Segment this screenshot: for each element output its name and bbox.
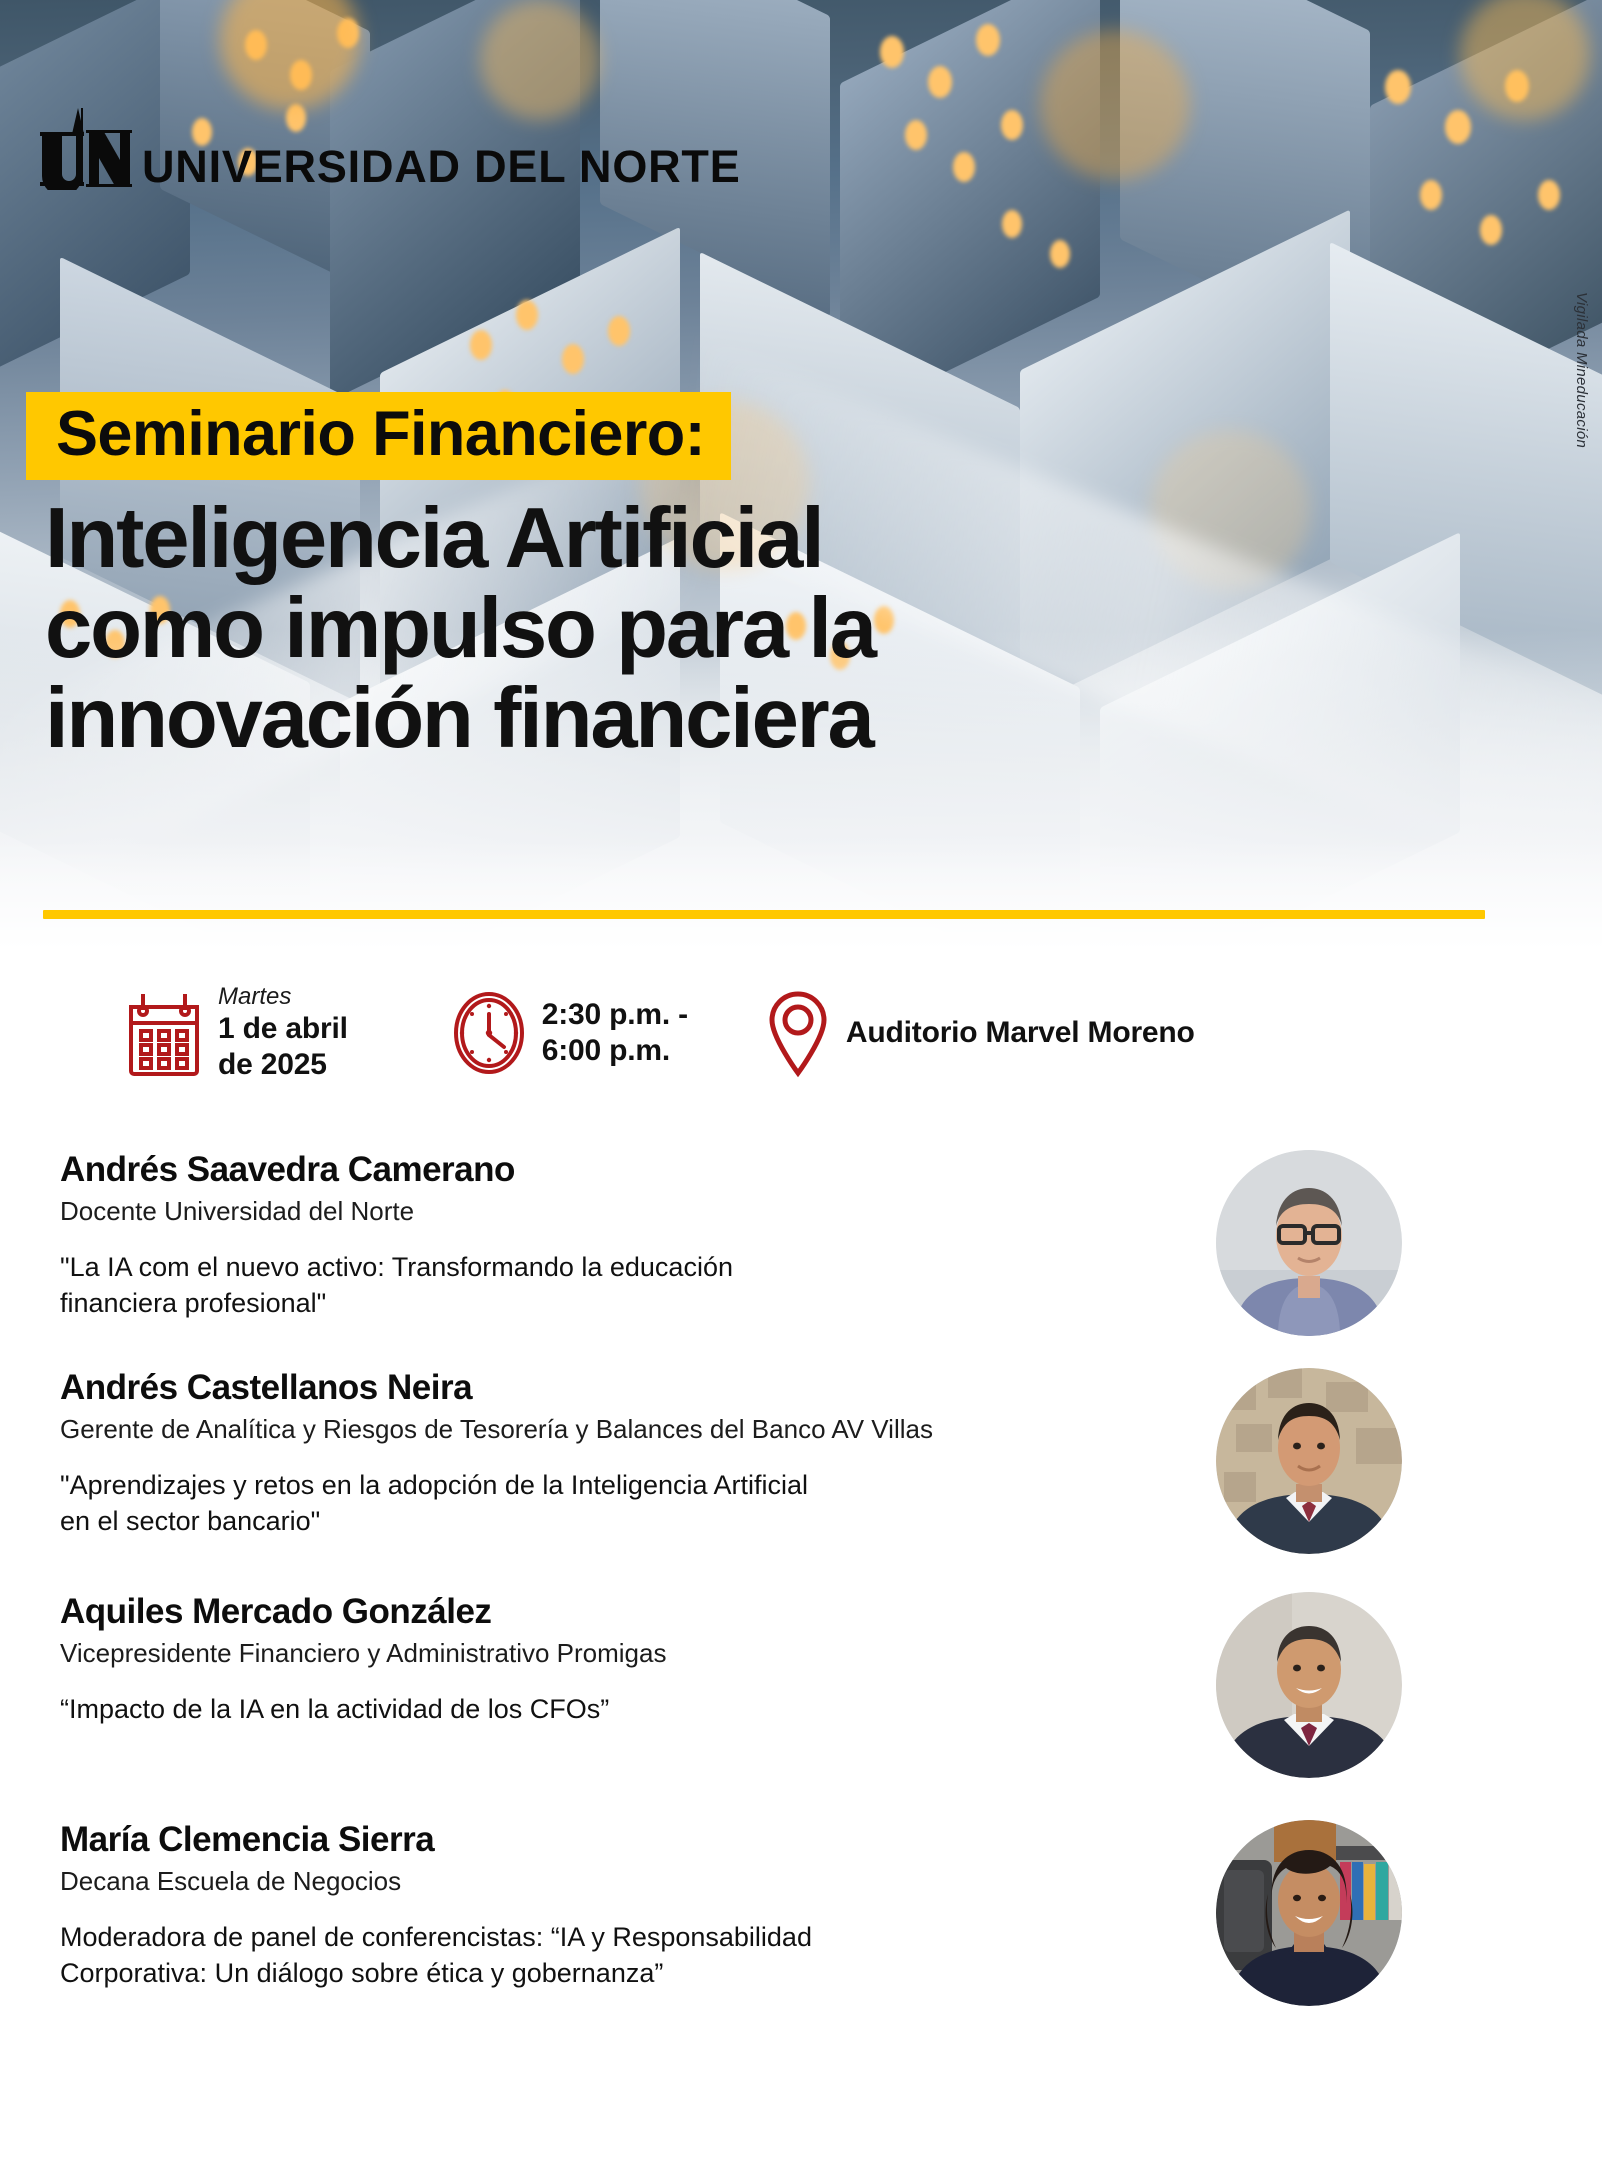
deco-light xyxy=(562,344,584,374)
deco-light xyxy=(1001,110,1023,140)
event-time: 2:30 p.m. - 6:00 p.m. xyxy=(452,990,688,1076)
avatar xyxy=(1216,1820,1402,2006)
speaker-role: Vicepresidente Financiero y Administrati… xyxy=(60,1637,1192,1671)
speaker-topic-line-2: en el sector bancario" xyxy=(60,1504,1192,1540)
speaker-name: María Clemencia Sierra xyxy=(60,1820,1192,1861)
speaker-topic-line-1: "La IA com el nuevo activo: Transformand… xyxy=(60,1250,1192,1286)
calendar-icon xyxy=(126,990,202,1076)
speakers-list: Andrés Saavedra Camerano Docente Univers… xyxy=(0,1150,1602,2006)
speaker-entry: María Clemencia Sierra Decana Escuela de… xyxy=(0,1820,1602,2006)
deco-glow xyxy=(1040,30,1190,180)
event-date: Martes 1 de abril de 2025 xyxy=(126,983,348,1083)
speaker-topic-line-1: "Aprendizajes y retos en la adopción de … xyxy=(60,1468,1192,1504)
deco-light xyxy=(880,36,904,68)
event-time-end: 6:00 p.m. xyxy=(542,1033,688,1069)
deco-glow xyxy=(480,0,600,120)
page-title: Inteligencia Artificial como impulso par… xyxy=(45,494,1385,764)
speaker-name: Aquiles Mercado González xyxy=(60,1592,1192,1633)
deco-light xyxy=(976,24,1000,56)
vigilada-mineducacion-note: Vigilada Mineducación xyxy=(1573,292,1590,448)
event-location: Auditorio Marvel Moreno xyxy=(766,988,1195,1078)
avatar xyxy=(1216,1150,1402,1336)
deco-light xyxy=(1420,180,1442,210)
speaker-topic-line-2: Corporativa: Un diálogo sobre ética y go… xyxy=(60,1956,1192,1992)
map-pin-icon xyxy=(766,988,830,1078)
deco-light xyxy=(928,66,952,98)
deco-light xyxy=(905,120,927,150)
deco-light xyxy=(1445,110,1471,144)
event-time-start: 2:30 p.m. - xyxy=(542,997,688,1033)
speaker-name: Andrés Saavedra Camerano xyxy=(60,1150,1192,1191)
title-block: Seminario Financiero: Inteligencia Artif… xyxy=(0,392,1602,765)
speaker-portrait-andres-saavedra xyxy=(1216,1150,1402,1336)
headline-line-1: Inteligencia Artificial xyxy=(45,494,1385,584)
speaker-role: Decana Escuela de Negocios xyxy=(60,1865,1192,1899)
event-venue: Auditorio Marvel Moreno xyxy=(846,1016,1195,1050)
speaker-text: Aquiles Mercado González Vicepresidente … xyxy=(60,1592,1216,1728)
event-year: de 2025 xyxy=(218,1047,348,1083)
deco-light xyxy=(470,330,492,360)
event-time-lines: 2:30 p.m. - 6:00 p.m. xyxy=(542,997,688,1069)
speaker-portrait-andres-castellanos xyxy=(1216,1368,1402,1554)
speaker-topic-line-1: “Impacto de la IA en la actividad de los… xyxy=(60,1692,1192,1728)
hero-bottom-fade-2 xyxy=(0,840,1602,960)
speaker-topic: “Impacto de la IA en la actividad de los… xyxy=(60,1692,1192,1728)
speaker-entry: Aquiles Mercado González Vicepresidente … xyxy=(0,1592,1602,1778)
seminar-kicker: Seminario Financiero: xyxy=(26,392,731,480)
clock-icon xyxy=(452,990,526,1076)
speaker-portrait-aquiles-mercado xyxy=(1216,1592,1402,1778)
university-logo: UNIVERSIDAD DEL NORTE xyxy=(40,108,741,190)
speaker-topic: Moderadora de panel de conferencistas: “… xyxy=(60,1920,1192,1991)
deco-light xyxy=(608,316,630,346)
speaker-entry: Andrés Castellanos Neira Gerente de Anal… xyxy=(0,1368,1602,1554)
deco-light xyxy=(516,300,538,330)
event-date-lines: Martes 1 de abril de 2025 xyxy=(218,983,348,1083)
speaker-topic: "Aprendizajes y retos en la adopción de … xyxy=(60,1468,1192,1539)
event-weekday: Martes xyxy=(218,983,348,1011)
event-day-month: 1 de abril xyxy=(218,1011,348,1047)
speaker-entry: Andrés Saavedra Camerano Docente Univers… xyxy=(0,1150,1602,1336)
speaker-role: Docente Universidad del Norte xyxy=(60,1195,1192,1229)
event-info-bar: Martes 1 de abril de 2025 xyxy=(0,968,1602,1098)
deco-light xyxy=(1050,240,1070,268)
un-monogram-icon xyxy=(40,108,138,190)
deco-light xyxy=(953,152,975,182)
speaker-role: Gerente de Analítica y Riesgos de Tesore… xyxy=(60,1413,1192,1447)
headline-line-2: como impulso para la xyxy=(45,584,1385,674)
deco-light xyxy=(1002,210,1022,238)
speaker-topic-line-1: Moderadora de panel de conferencistas: “… xyxy=(60,1920,1192,1956)
event-poster: UNIVERSIDAD DEL NORTE Vigilada Mineducac… xyxy=(0,0,1602,2173)
avatar xyxy=(1216,1368,1402,1554)
speaker-text: María Clemencia Sierra Decana Escuela de… xyxy=(60,1820,1216,1992)
speaker-text: Andrés Castellanos Neira Gerente de Anal… xyxy=(60,1368,1216,1540)
deco-light xyxy=(1480,215,1502,245)
speaker-text: Andrés Saavedra Camerano Docente Univers… xyxy=(60,1150,1216,1322)
headline-line-3: innovación financiera xyxy=(45,674,1385,764)
deco-light xyxy=(1538,180,1560,210)
speaker-name: Andrés Castellanos Neira xyxy=(60,1368,1192,1409)
speaker-topic-line-2: financiera profesional" xyxy=(60,1286,1192,1322)
university-name: UNIVERSIDAD DEL NORTE xyxy=(142,146,741,187)
avatar xyxy=(1216,1592,1402,1778)
yellow-divider xyxy=(43,910,1485,919)
speaker-portrait-maria-clemencia xyxy=(1216,1820,1402,2006)
speaker-topic: "La IA com el nuevo activo: Transformand… xyxy=(60,1250,1192,1321)
deco-light xyxy=(1385,70,1411,104)
